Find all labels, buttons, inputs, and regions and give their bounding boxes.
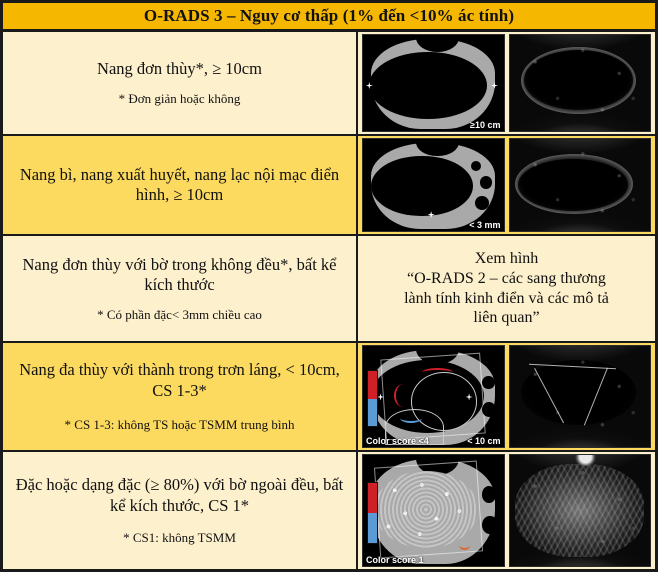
orads-3-reference-table: O-RADS 3 – Nguy cơ thấp (1% đến <10% ác …	[0, 0, 658, 572]
row-2-description-cell: Nang bì, nang xuất huyết, nang lạc nội m…	[3, 136, 358, 234]
row-3-description: Nang đơn thùy với bờ trong không đều*, b…	[11, 255, 348, 296]
row-5-image-cell: Color score 1	[358, 452, 655, 569]
row-3-crossreference-cell: Xem hình “O-RADS 2 – các sang thương làn…	[358, 236, 655, 341]
row-3-footnote: * Có phần đặc< 3mm chiều cao	[97, 307, 262, 323]
row-1-image-cell: ≥10 cm	[358, 32, 655, 134]
dermoid-hemorrhagic-endometrioma-ultrasound	[509, 138, 652, 232]
row-4-description: Nang đa thùy với thành trong trơn láng, …	[11, 360, 348, 401]
table-row: Nang bì, nang xuất huyết, nang lạc nội m…	[3, 136, 655, 236]
table-row: Nang đa thùy với thành trong trơn láng, …	[3, 343, 655, 452]
solid-mass-color-score-1-schematic: Color score 1	[362, 454, 505, 567]
row-2-description: Nang bì, nang xuất huyết, nang lạc nội m…	[11, 165, 348, 206]
row-4-description-cell: Nang đa thùy với thành trong trơn láng, …	[3, 343, 358, 450]
row-5-diagram-caption-left: Color score 1	[366, 555, 424, 565]
xref-line-4: liên quan”	[404, 308, 609, 328]
color-doppler-scale-bar	[367, 370, 378, 427]
page-title: O-RADS 3 – Nguy cơ thấp (1% đến <10% ác …	[144, 6, 514, 26]
row-4-diagram-caption-left: Color score <4	[366, 436, 429, 446]
table-row: Nang đơn thùy*, ≥ 10cm * Đơn giản hoặc k…	[3, 32, 655, 136]
multilocular-cyst-color-doppler-schematic: Color score <4 < 10 cm	[362, 345, 505, 448]
dermoid-hemorrhagic-endometrioma-schematic: < 3 mm	[362, 138, 505, 232]
row-2-diagram-caption: < 3 mm	[469, 220, 500, 230]
table-header: O-RADS 3 – Nguy cơ thấp (1% đến <10% ác …	[3, 3, 655, 32]
xref-line-3: lành tính kinh điển và các mô tả	[404, 289, 609, 309]
row-1-description-cell: Nang đơn thùy*, ≥ 10cm * Đơn giản hoặc k…	[3, 32, 358, 134]
xref-line-2: “O-RADS 2 – các sang thương	[404, 269, 609, 289]
row-4-footnote: * CS 1-3: không TS hoặc TSMM trung bình	[65, 417, 295, 433]
xref-line-1: Xem hình	[404, 249, 609, 269]
row-4-image-cell: Color score <4 < 10 cm	[358, 343, 655, 450]
table-row: Nang đơn thùy với bờ trong không đều*, b…	[3, 236, 655, 343]
row-5-footnote: * CS1: không TSMM	[123, 530, 236, 546]
row-3-description-cell: Nang đơn thùy với bờ trong không đều*, b…	[3, 236, 358, 341]
row-1-diagram-caption: ≥10 cm	[470, 120, 500, 130]
row-4-diagram-caption: < 10 cm	[467, 436, 500, 446]
unilocular-cyst-schematic: ≥10 cm	[362, 34, 505, 132]
row-5-description: Đặc hoặc dạng đặc (≥ 80%) với bờ ngoài đ…	[11, 475, 348, 516]
color-doppler-scale-bar	[367, 482, 378, 544]
solid-mass-ultrasound	[509, 454, 652, 567]
row-1-description: Nang đơn thùy*, ≥ 10cm	[97, 59, 262, 79]
table-row: Đặc hoặc dạng đặc (≥ 80%) với bờ ngoài đ…	[3, 452, 655, 569]
row-2-image-cell: < 3 mm	[358, 136, 655, 234]
unilocular-cyst-ultrasound	[509, 34, 652, 132]
multilocular-cyst-ultrasound	[509, 345, 652, 448]
row-5-description-cell: Đặc hoặc dạng đặc (≥ 80%) với bờ ngoài đ…	[3, 452, 358, 569]
row-1-footnote: * Đơn giản hoặc không	[119, 91, 241, 107]
